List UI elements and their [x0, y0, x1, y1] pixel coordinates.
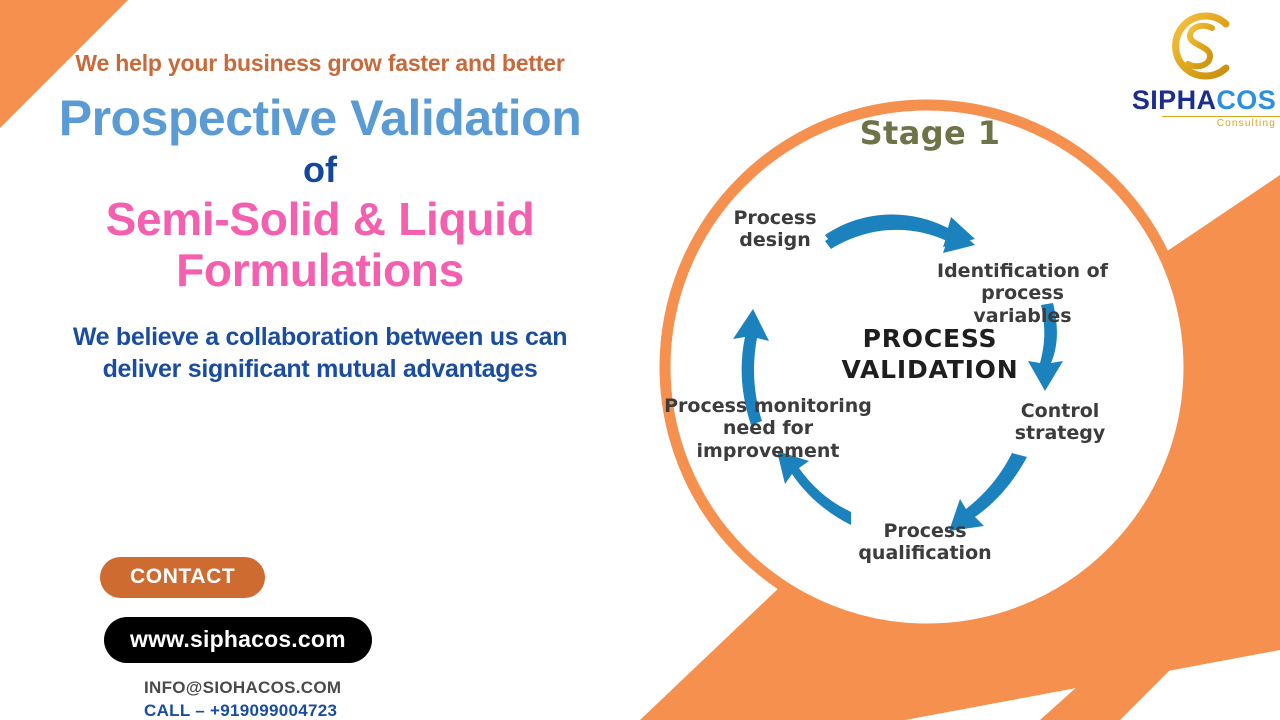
subcopy-line-2: deliver significant mutual advantages: [0, 353, 640, 385]
logo-divider: [1162, 116, 1280, 117]
tagline: We help your business grow faster and be…: [0, 50, 640, 78]
email-text[interactable]: INFO@SIOHACOS.COM: [144, 677, 530, 700]
process-validation-diagram: Stage 1 PROCESS VALIDATION Process desig…: [655, 95, 1200, 640]
brand-logo: SIPHACOS Consulting: [1128, 8, 1280, 129]
cta-block: CONTACT www.siphacos.com INFO@SIOHACOS.C…: [100, 557, 530, 720]
title-subject-line-1: Semi-Solid & Liquid: [0, 194, 640, 246]
subcopy-line-1: We believe a collaboration between us ca…: [0, 321, 640, 353]
diagram-node-process-design: Process design: [700, 207, 850, 252]
logo-monogram-icon: [1128, 8, 1280, 82]
logo-tagline: Consulting: [1128, 118, 1280, 129]
logo-word-first: SIPHA: [1132, 85, 1217, 115]
contact-details: INFO@SIOHACOS.COM CALL – +919099004723: [144, 677, 530, 720]
diagram-node-control-strategy: Control strategy: [995, 400, 1125, 445]
poster-canvas: We help your business grow faster and be…: [0, 0, 1280, 720]
page-title: Prospective Validation: [0, 92, 640, 145]
headline-block: We help your business grow faster and be…: [0, 50, 640, 385]
contact-button[interactable]: CONTACT: [100, 557, 265, 598]
diagram-node-identification-of-process-variables: Identification of process variables: [935, 260, 1110, 327]
title-subject-line-2: Formulations: [0, 245, 640, 297]
diagram-center-line-2: VALIDATION: [805, 354, 1055, 385]
title-connector: of: [0, 147, 640, 192]
phone-text[interactable]: CALL – +919099004723: [144, 700, 530, 720]
logo-word-second: COS: [1216, 85, 1276, 115]
diagram-center-label: PROCESS VALIDATION: [805, 323, 1055, 386]
diagram-center-line-1: PROCESS: [805, 323, 1055, 354]
diagram-node-process-monitoring: Process monitoring need for improvement: [663, 395, 873, 462]
logo-wordmark: SIPHACOS: [1128, 87, 1280, 114]
website-button[interactable]: www.siphacos.com: [104, 617, 372, 663]
diagram-stage-label: Stage 1: [805, 115, 1055, 153]
diagram-node-process-qualification: Process qualification: [845, 520, 1005, 565]
